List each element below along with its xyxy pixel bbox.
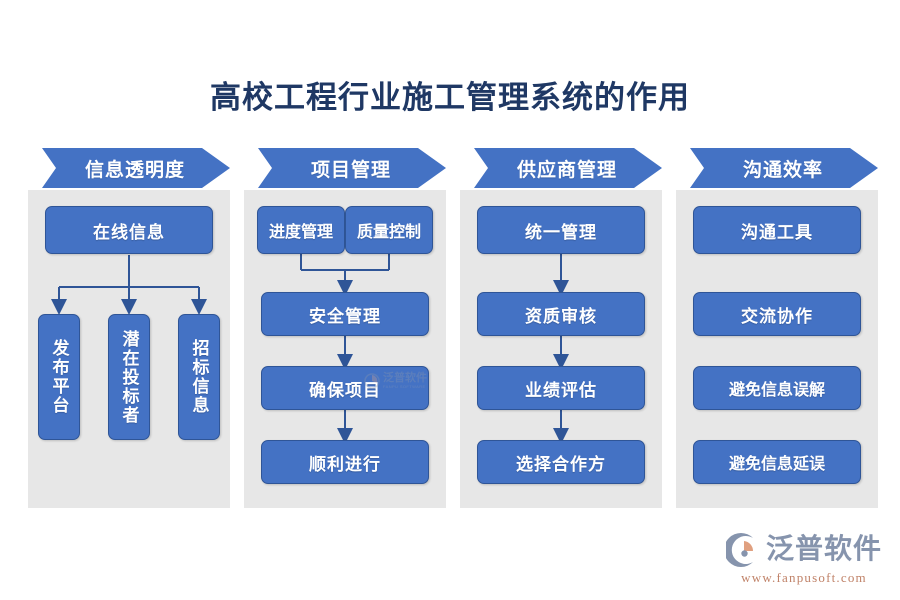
- node-label: 安全管理: [309, 302, 381, 327]
- column-communication-efficiency: 沟通效率 沟通工具 交流协作 避免信息误解 避免信息延误: [676, 148, 878, 508]
- brand-name: 泛普软件: [766, 536, 882, 564]
- column-panel-3: 沟通工具 交流协作 避免信息误解 避免信息延误: [676, 190, 878, 508]
- column-supplier-management: 供应商管理 统一管理 资质审核 业绩评估: [460, 148, 662, 508]
- diagram-canvas: 高校工程行业施工管理系统的作用 信息透明度: [0, 0, 900, 600]
- node-exchange-collaboration[interactable]: 交流协作: [693, 292, 861, 336]
- page-title: 高校工程行业施工管理系统的作用: [0, 72, 900, 117]
- column-header-banner-1: 项目管理: [244, 148, 446, 188]
- watermark-logo: 泛普软件 FANPU SOFTWARE: [364, 368, 448, 394]
- watermark-name: 泛普软件: [383, 373, 427, 384]
- node-label: 发布平台: [47, 339, 72, 415]
- column-header-label-3: 沟通效率: [731, 155, 823, 182]
- node-label: 潜在投标者: [117, 330, 142, 425]
- node-communication-tools[interactable]: 沟通工具: [693, 206, 861, 254]
- node-avoid-delay[interactable]: 避免信息延误: [693, 440, 861, 484]
- node-label: 避免信息延误: [729, 450, 825, 474]
- node-schedule-management[interactable]: 进度管理: [257, 206, 345, 254]
- column-header-label-1: 项目管理: [299, 155, 391, 182]
- node-label: 选择合作方: [516, 450, 606, 475]
- column-header-banner-3: 沟通效率: [676, 148, 878, 188]
- column-information-transparency: 信息透明度 在线信息 发: [28, 148, 230, 508]
- watermark-mark-icon: [364, 373, 380, 389]
- node-label: 招标信息: [187, 339, 212, 415]
- node-avoid-misunderstanding[interactable]: 避免信息误解: [693, 366, 861, 410]
- column-header-banner-0: 信息透明度: [28, 148, 230, 188]
- column-panel-2: 统一管理 资质审核 业绩评估 选择合作方: [460, 190, 662, 508]
- node-choose-partner[interactable]: 选择合作方: [477, 440, 645, 484]
- brand-row: 泛普软件: [726, 533, 882, 567]
- node-label: 沟通工具: [741, 218, 813, 243]
- column-header-label-2: 供应商管理: [505, 155, 617, 182]
- column-header-banner-2: 供应商管理: [460, 148, 662, 188]
- node-label: 顺利进行: [309, 450, 381, 475]
- node-safety-management[interactable]: 安全管理: [261, 292, 429, 336]
- column-header-label-0: 信息透明度: [73, 155, 185, 182]
- node-label: 资质审核: [525, 302, 597, 327]
- node-label: 进度管理: [269, 218, 333, 242]
- node-label: 统一管理: [525, 218, 597, 243]
- node-quality-control[interactable]: 质量控制: [345, 206, 433, 254]
- node-performance-evaluation[interactable]: 业绩评估: [477, 366, 645, 410]
- node-label: 业绩评估: [525, 376, 597, 401]
- node-label: 质量控制: [357, 218, 421, 242]
- node-label: 避免信息误解: [729, 376, 825, 400]
- node-label: 在线信息: [93, 218, 165, 243]
- column-panel-1: 进度管理 质量控制 安全管理 确保项目 顺利进行 泛普软件: [244, 190, 446, 508]
- column-panel-0: 在线信息 发布平台 潜在投标者 招标信息: [28, 190, 230, 508]
- fanpu-mark-icon: [726, 533, 760, 567]
- node-publishing-platform[interactable]: 发布平台: [38, 314, 80, 440]
- brand-logo: 泛普软件 www.fanpusoft.com: [726, 533, 882, 584]
- brand-url: www.fanpusoft.com: [741, 571, 867, 584]
- column-project-management: 项目管理 进度管理: [244, 148, 446, 508]
- node-label: 交流协作: [741, 302, 813, 327]
- node-unified-management[interactable]: 统一管理: [477, 206, 645, 254]
- node-potential-bidders[interactable]: 潜在投标者: [108, 314, 150, 440]
- node-smooth-progress[interactable]: 顺利进行: [261, 440, 429, 484]
- watermark-sub: FANPU SOFTWARE: [383, 384, 427, 389]
- node-online-information[interactable]: 在线信息: [45, 206, 213, 254]
- node-qualification-review[interactable]: 资质审核: [477, 292, 645, 336]
- node-tender-information[interactable]: 招标信息: [178, 314, 220, 440]
